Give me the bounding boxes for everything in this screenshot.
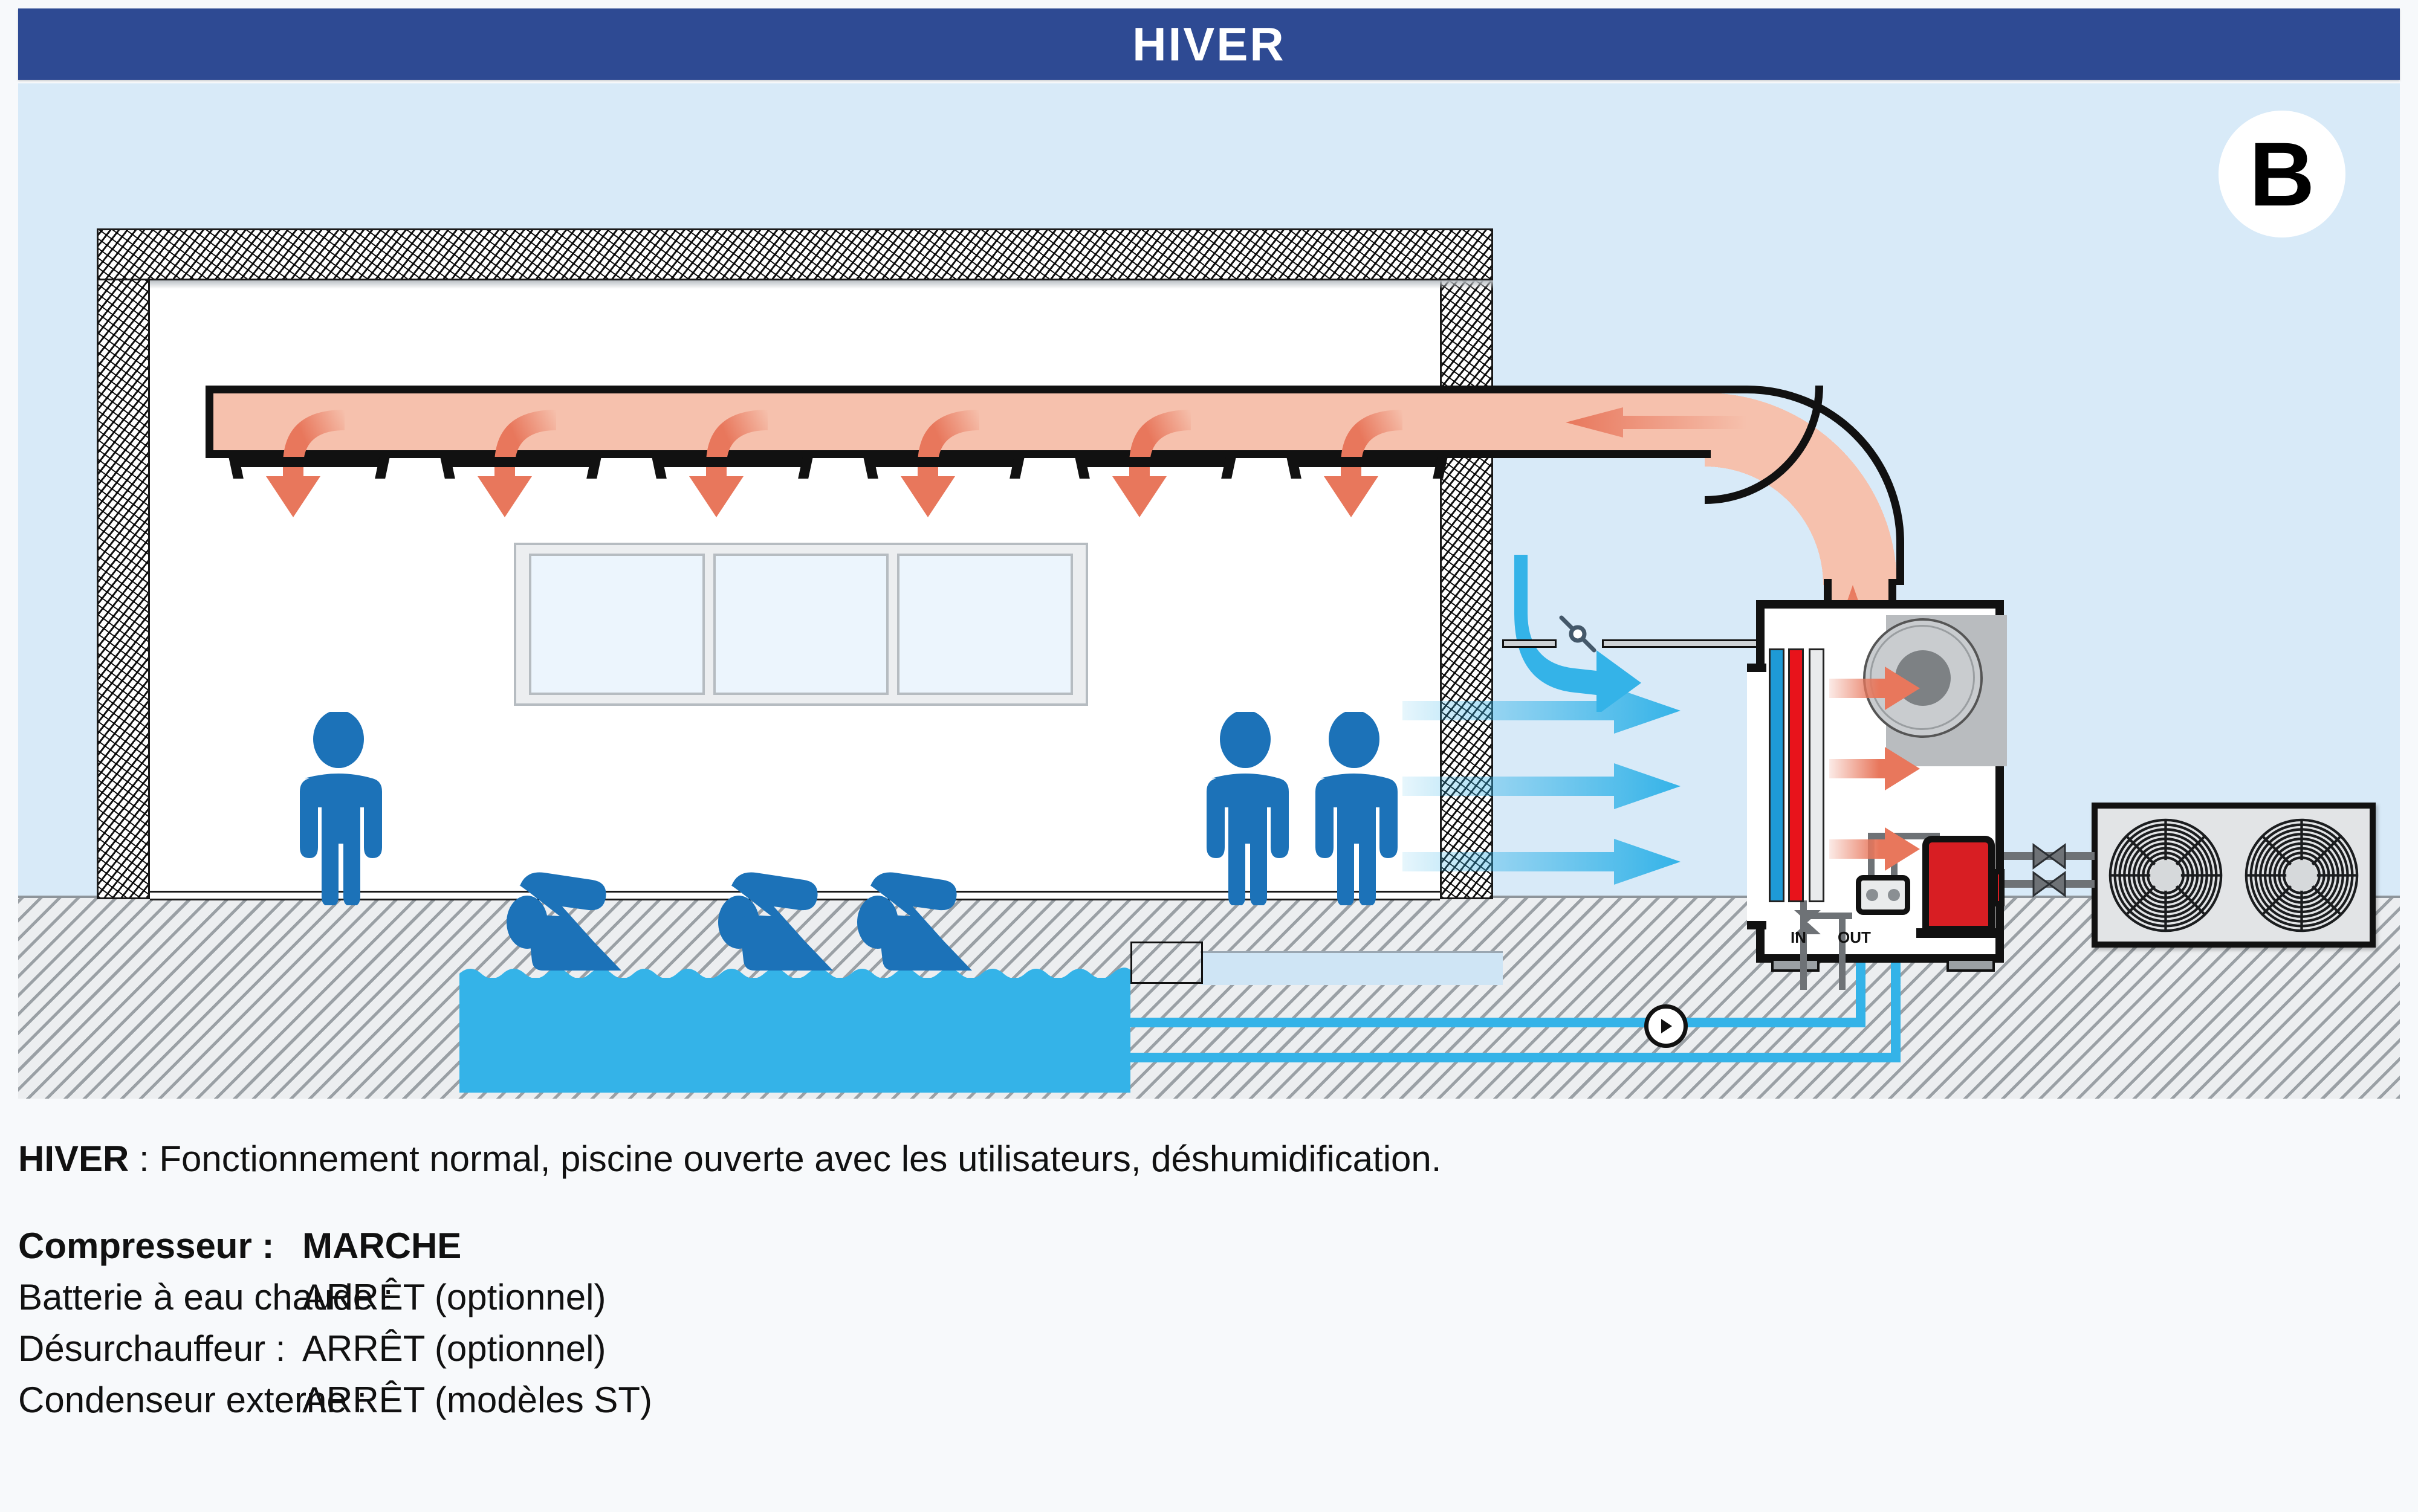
heated-air-arrow-icon: [1829, 747, 1920, 793]
spec-value: ARRÊT (modèles ST): [302, 1374, 652, 1426]
evaporator-coil: [1769, 648, 1784, 902]
ceiling-diffuser: [218, 457, 399, 479]
hx-port: [1888, 889, 1900, 901]
pool-edge-coping: [1130, 942, 1203, 984]
season-label: HIVER: [18, 1139, 129, 1179]
spec-value: ARRÊT (optionnel): [302, 1271, 606, 1323]
optional-coil-inactive: [1809, 648, 1824, 902]
spec-label: Compresseur :: [18, 1220, 302, 1271]
spec-label: Désurchauffeur :: [18, 1323, 302, 1374]
refrigerant-pipe-out: [1839, 913, 1846, 990]
table-row: Condenseur externe : ARRÊT (modèles ST): [18, 1374, 2376, 1426]
compressor-vessel: [1922, 836, 1995, 932]
wall-left-insulation: [97, 280, 150, 899]
plate-heat-exchanger: [1856, 875, 1910, 915]
condenser-fan-grille-icon: [2107, 816, 2225, 934]
heated-air-arrow-icon: [1829, 667, 1920, 713]
hx-out-label: OUT: [1838, 928, 1871, 947]
outdoor-condenser-unit: [2092, 803, 2376, 948]
spec-value: MARCHE: [302, 1220, 461, 1271]
hall-window: [514, 543, 1088, 706]
pool-water-supply-run: [1130, 1053, 1901, 1062]
pool-water-return-run: [1130, 1018, 1865, 1027]
spec-label: Condenseur externe :: [18, 1374, 302, 1426]
person-figure: [1294, 712, 1415, 908]
ceiling-diffuser: [641, 457, 822, 479]
return-air-arrow-icon: [1402, 763, 1681, 809]
return-air-arrow-icon: [1402, 839, 1681, 885]
window-pane: [529, 554, 705, 695]
ahu-foot: [1771, 958, 1820, 972]
table-row: Batterie à eau chaude : ARRÊT (optionnel…: [18, 1271, 2376, 1323]
pool-water-far: [1201, 951, 1503, 985]
ahu-foot: [1946, 958, 1995, 972]
operating-state-table: Compresseur : MARCHE Batterie à eau chau…: [18, 1220, 2376, 1426]
ground-hatching: [18, 896, 2400, 1099]
fresh-air-damper-icon: [1557, 613, 1599, 658]
spec-value: ARRÊT (optionnel): [302, 1323, 606, 1374]
ahu-inlet-notch: [1747, 664, 1766, 929]
spec-label: Batterie à eau chaude :: [18, 1271, 302, 1323]
shutoff-valve-icon: [2031, 842, 2067, 873]
compressor-base: [1916, 928, 2002, 938]
roof-shadow: [150, 280, 1493, 289]
window-pane: [897, 554, 1073, 695]
shutoff-valve-icon: [2031, 870, 2067, 901]
window-pane: [713, 554, 889, 695]
diagram-page: HIVER B: [0, 0, 2418, 1512]
swimmer-figure: [713, 857, 864, 981]
person-figure: [278, 712, 399, 908]
supply-flow-arrow-icon: [1566, 407, 1747, 438]
page-title: HIVER: [1132, 17, 1285, 72]
fresh-air-grille: [1502, 639, 1557, 648]
roof-insulation: [97, 228, 1493, 280]
heated-air-arrow-icon: [1829, 827, 1920, 874]
season-header-bar: HIVER: [18, 8, 2400, 80]
hx-port: [1866, 889, 1878, 901]
ceiling-diffuser: [1064, 457, 1245, 479]
season-separator: :: [129, 1139, 159, 1179]
season-description: Fonctionnement normal, piscine ouverte a…: [159, 1139, 1441, 1179]
illustration-canvas: B: [18, 83, 2400, 1099]
ceiling-diffuser: [429, 457, 611, 479]
table-row: Compresseur : MARCHE: [18, 1220, 2376, 1271]
person-figure: [1185, 712, 1306, 908]
circulation-pump-icon: [1644, 1004, 1688, 1048]
season-description-line: HIVER : Fonctionnement normal, piscine o…: [18, 1136, 2376, 1183]
table-row: Désurchauffeur : ARRÊT (optionnel): [18, 1323, 2376, 1374]
swimmer-figure: [502, 857, 653, 981]
panel-letter-badge: B: [2219, 111, 2345, 237]
pool-water-riser: [1891, 985, 1901, 1062]
supply-duct-end-cap: [206, 386, 213, 458]
swimmer-figure: [852, 857, 1003, 981]
ceiling-diffuser: [1275, 457, 1457, 479]
hx-in-label: IN: [1791, 928, 1806, 947]
ceiling-diffuser: [852, 457, 1034, 479]
compressor-terminal-lug: [1992, 869, 2005, 906]
caption-block: HIVER : Fonctionnement normal, piscine o…: [18, 1136, 2376, 1426]
condenser-fan-grille-icon: [2243, 816, 2361, 934]
condenser-coil: [1788, 648, 1804, 902]
mixing-plenum-divider: [1602, 639, 1772, 648]
pool-water: [459, 978, 1130, 1093]
